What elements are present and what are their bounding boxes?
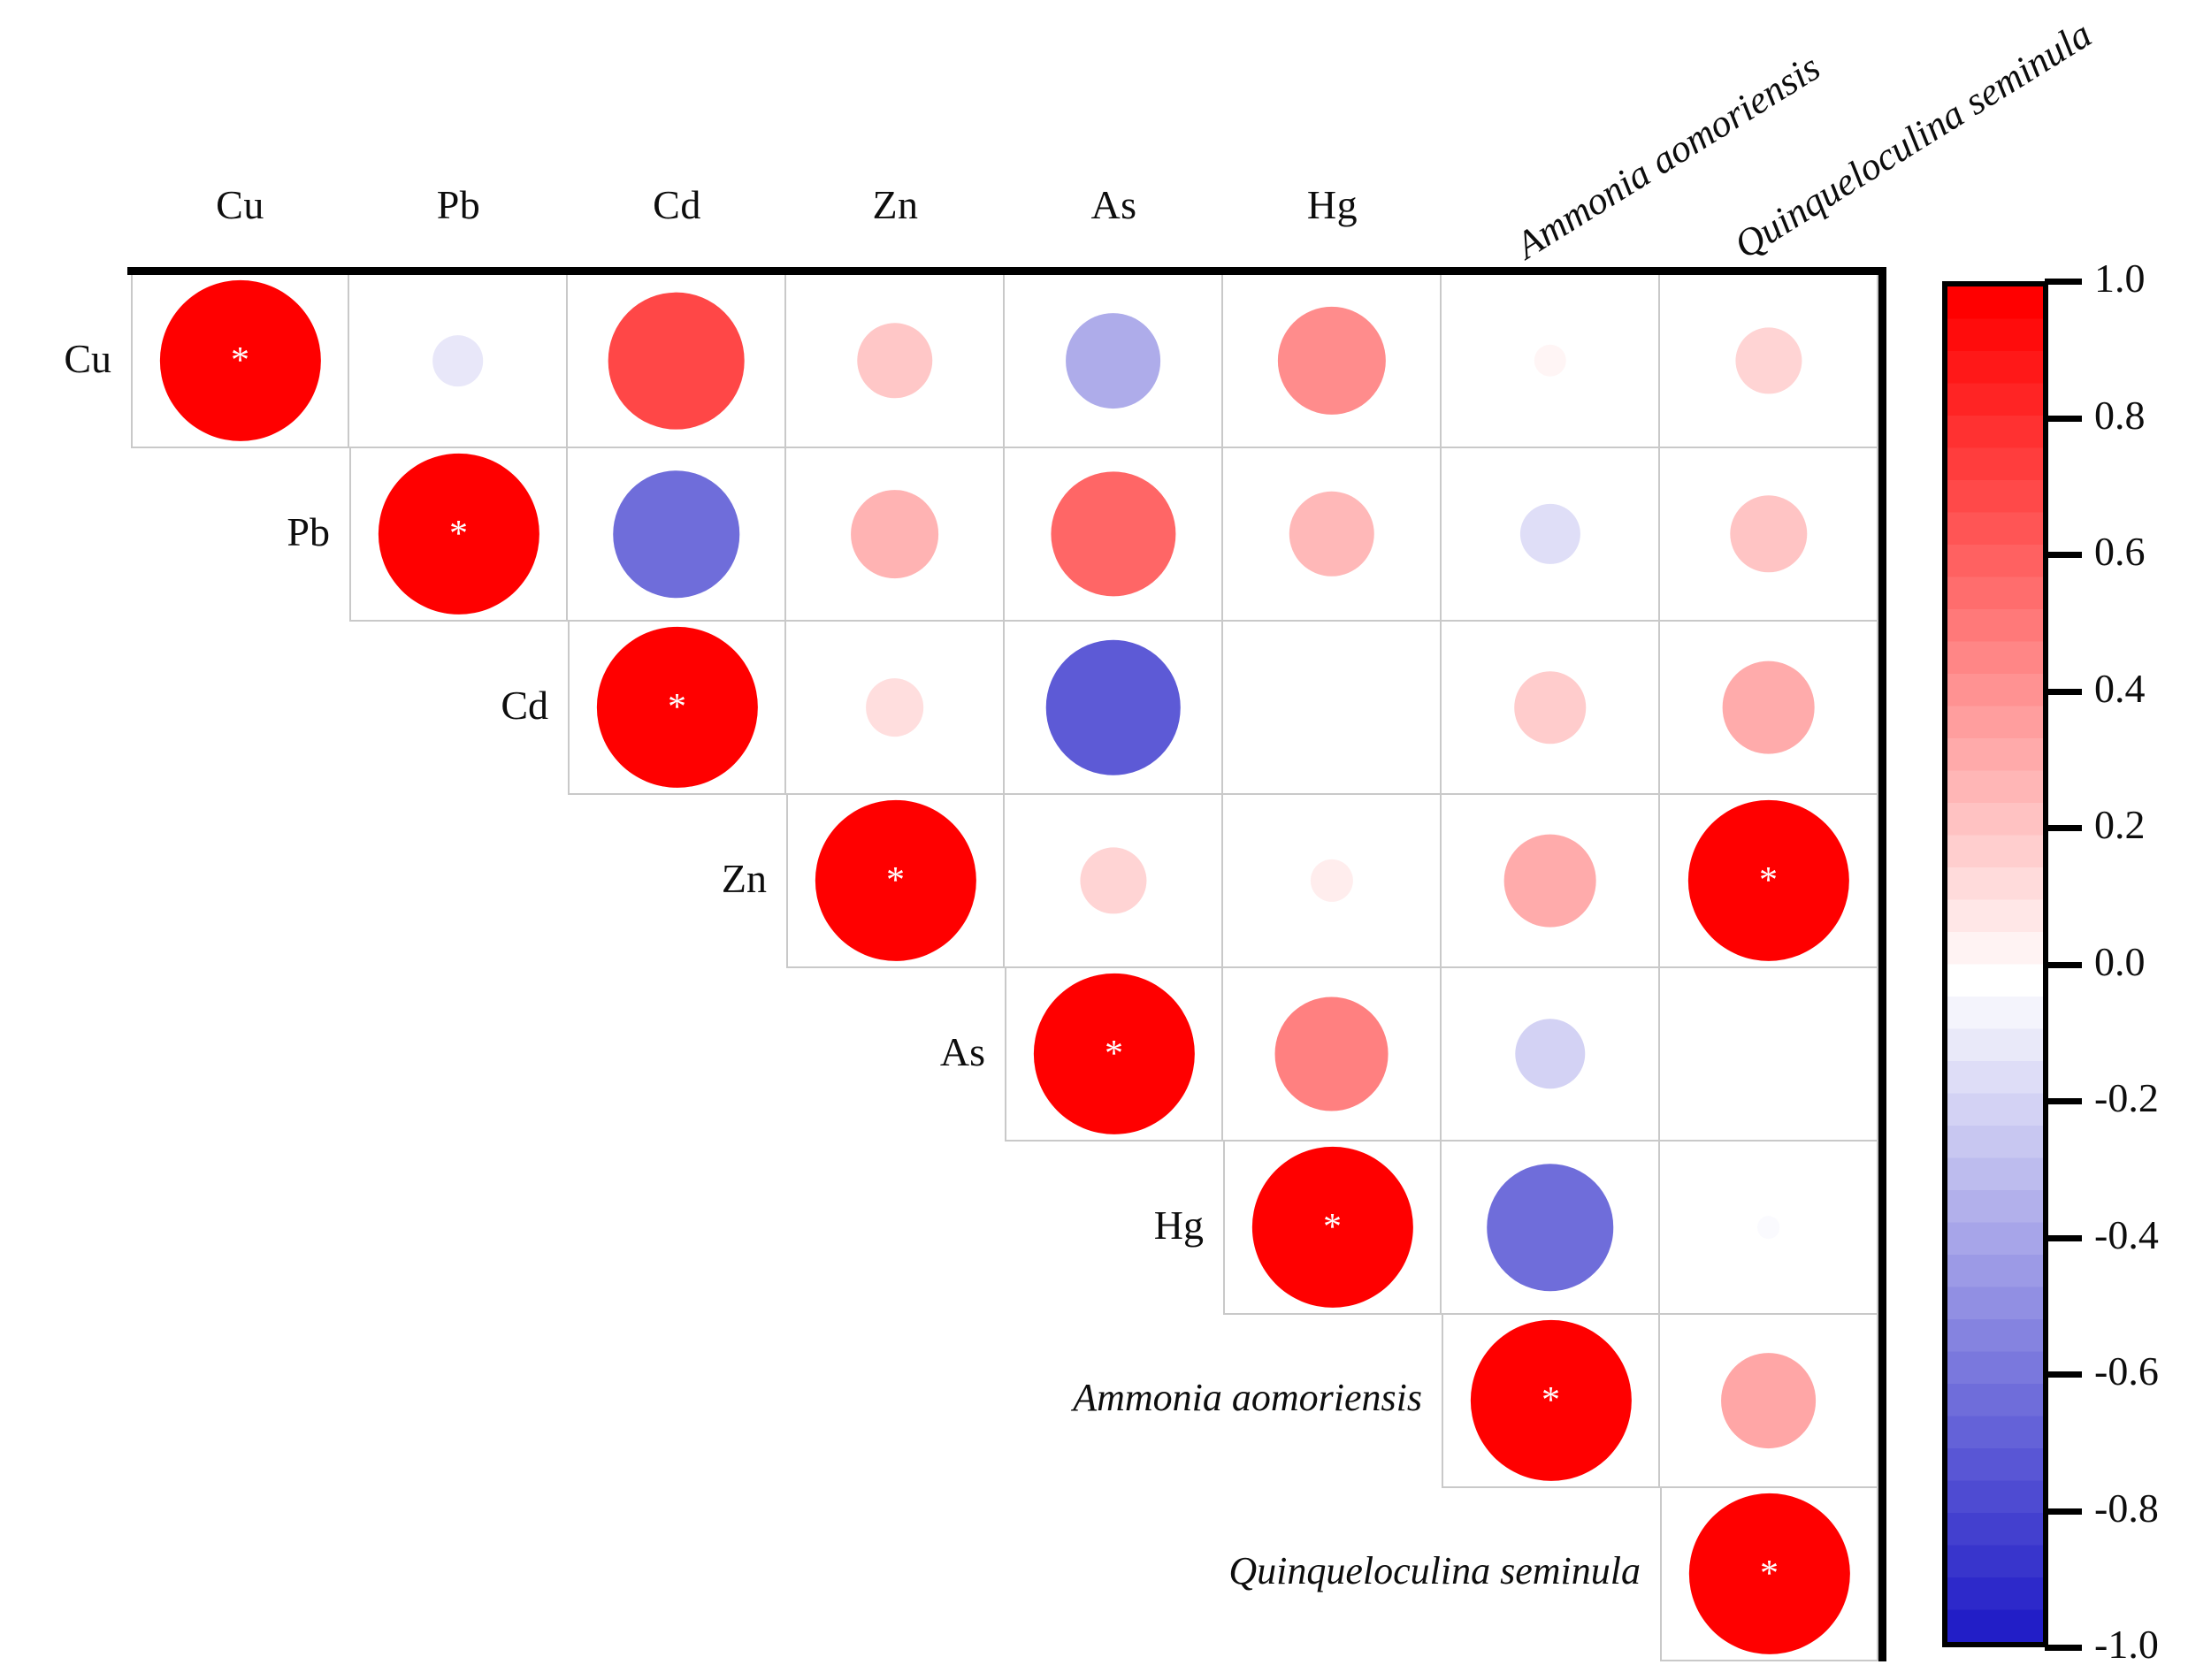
colorbar-tick: [2045, 416, 2082, 422]
matrix-top-rule: [127, 267, 1882, 275]
colorbar-tick: [2045, 962, 2082, 968]
colorbar-gradient-box: [1942, 281, 2048, 1647]
colorbar-tick: [2045, 1371, 2082, 1378]
correlation-matrix-figure: CuPbCdZnAsHgAmmonia aomoriensisQuinquelo…: [0, 0, 2211, 1680]
colorbar-tick-label: 0.4: [2094, 665, 2146, 712]
colorbar-tick-label: -0.4: [2094, 1211, 2159, 1258]
colorbar-tick-label: 0.0: [2094, 938, 2146, 985]
colorbar-tick: [2045, 552, 2082, 558]
colorbar-tick-label: 0.6: [2094, 528, 2146, 575]
colorbar-tick-label: 0.2: [2094, 801, 2146, 848]
colorbar-tick-label: 0.8: [2094, 392, 2146, 439]
colorbar-tick-label: -1.0: [2094, 1621, 2159, 1668]
colorbar-gradient: [1947, 286, 2043, 1642]
colorbar-tick: [2045, 825, 2082, 831]
colorbar-tick: [2045, 689, 2082, 695]
colorbar-tick: [2045, 1235, 2082, 1241]
colorbar-tick: [2045, 279, 2082, 285]
colorbar-tick-label: -0.2: [2094, 1074, 2159, 1121]
colorbar-tick: [2045, 1508, 2082, 1515]
colorbar-tick-label: -0.8: [2094, 1485, 2159, 1531]
colorbar-tick: [2045, 1098, 2082, 1104]
matrix-right-rule: [1878, 267, 1886, 1661]
colorbar-tick-label: -0.6: [2094, 1348, 2159, 1394]
colorbar-tick: [2045, 1645, 2082, 1651]
colorbar-tick-label: 1.0: [2094, 255, 2146, 302]
